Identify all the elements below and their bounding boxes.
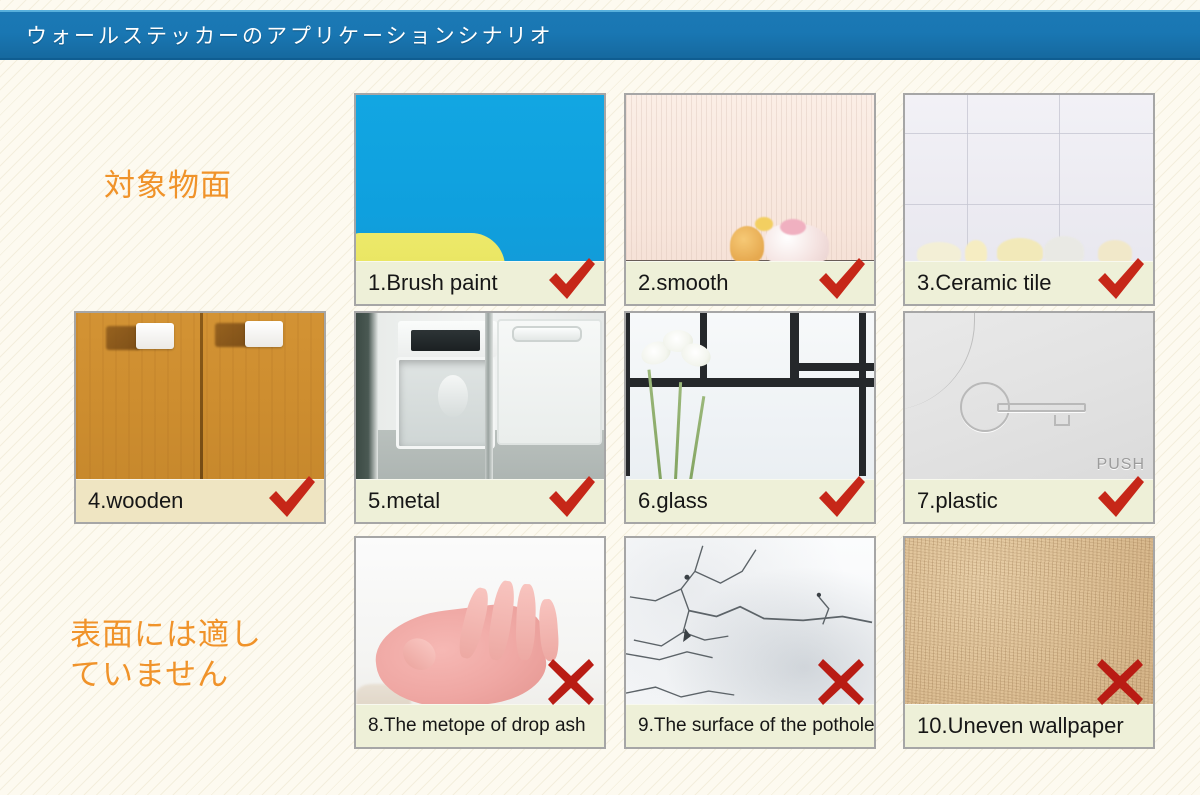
- check-mark-icon: [815, 256, 867, 302]
- surface-card-metal[interactable]: 5.metal: [354, 311, 606, 524]
- card-caption-text: 1.Brush paint: [368, 270, 498, 296]
- check-mark-icon: [1094, 256, 1146, 302]
- check-mark-icon: [265, 474, 317, 520]
- card-caption: 8.The metope of drop ash: [356, 704, 604, 747]
- card-caption: 9.The surface of the potholes: [626, 704, 874, 747]
- surface-card-uneven-wallpaper[interactable]: 10.Uneven wallpaper: [903, 536, 1155, 749]
- surface-card-potholes[interactable]: 9.The surface of the potholes: [624, 536, 876, 749]
- section-label-not-suitable: 表面には適し ていません: [70, 616, 262, 695]
- surface-card-smooth[interactable]: 2.smooth: [624, 93, 876, 306]
- surface-card-ceramic-tile[interactable]: 3.Ceramic tile: [903, 93, 1155, 306]
- surface-card-glass[interactable]: 6.glass: [624, 311, 876, 524]
- card-caption-text: 10.Uneven wallpaper: [917, 713, 1124, 739]
- check-mark-icon: [545, 256, 597, 302]
- card-caption-text: 3.Ceramic tile: [917, 270, 1051, 296]
- card-caption-text: 4.wooden: [88, 488, 183, 514]
- cross-mark-icon: [1095, 657, 1145, 707]
- header-banner: ウォールステッカーのアプリケーションシナリオ: [0, 10, 1200, 60]
- card-caption-text: 2.smooth: [638, 270, 729, 296]
- surface-card-plastic[interactable]: PUSH 7.plastic: [903, 311, 1155, 524]
- section-label-suitable: 対象物面: [104, 167, 232, 207]
- card-caption-text: 9.The surface of the potholes: [638, 715, 876, 737]
- card-caption-text: 8.The metope of drop ash: [368, 715, 586, 737]
- cross-mark-icon: [546, 657, 596, 707]
- push-label: PUSH: [1097, 456, 1145, 474]
- card-caption: 10.Uneven wallpaper: [905, 704, 1153, 747]
- surface-card-drop-ash[interactable]: 8.The metope of drop ash: [354, 536, 606, 749]
- check-mark-icon: [545, 474, 597, 520]
- check-mark-icon: [815, 474, 867, 520]
- surface-card-wooden[interactable]: 4.wooden: [74, 311, 326, 524]
- page-title: ウォールステッカーのアプリケーションシナリオ: [26, 20, 554, 50]
- card-caption-text: 5.metal: [368, 488, 440, 514]
- card-caption-text: 7.plastic: [917, 488, 998, 514]
- card-caption-text: 6.glass: [638, 488, 708, 514]
- check-mark-icon: [1094, 474, 1146, 520]
- surface-card-brush-paint[interactable]: 1.Brush paint: [354, 93, 606, 306]
- cross-mark-icon: [816, 657, 866, 707]
